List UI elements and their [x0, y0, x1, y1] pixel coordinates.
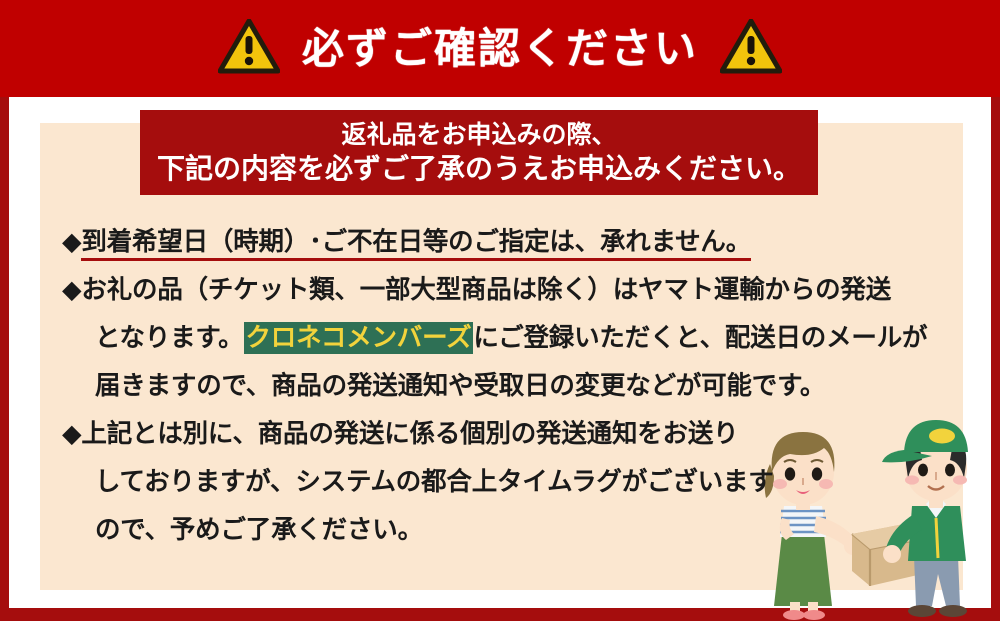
notice-item: ◆上記とは別に、商品の発送に係る個別の発送通知をお送り — [62, 410, 942, 458]
notice-text: お礼の品（チケット類、一部大型商品は除く）はヤマト運輸からの発送 — [81, 275, 891, 305]
notice-text: 届きますので、商品の発送通知や受取日の変更などが可能です。 — [95, 371, 825, 401]
notice-item: ◆到着希望日（時期）･ご不在日等のご指定は、承れません。 — [62, 218, 942, 266]
kuroneko-members-highlight: クロネコメンバーズ — [244, 322, 474, 354]
notice-list: ◆到着希望日（時期）･ご不在日等のご指定は、承れません。 ◆お礼の品（チケット類… — [62, 218, 942, 554]
bullet-diamond-icon: ◆ — [62, 419, 81, 449]
notice-text: 到着希望日（時期）･ご不在日等のご指定は、承れません。 — [81, 227, 751, 261]
page-title: 必ずご確認ください — [302, 28, 698, 70]
banner-line-1: 返礼品をお申込みの際、 — [341, 118, 616, 151]
header-bar: 必ずご確認ください — [0, 0, 1000, 97]
bullet-diamond-icon: ◆ — [62, 227, 81, 257]
notice-line: ので、予めご了承ください。 — [62, 506, 942, 554]
warning-triangle-icon — [720, 19, 782, 78]
bullet-diamond-icon: ◆ — [62, 275, 81, 305]
frame-left-red-edge — [0, 97, 9, 621]
notice-text: にご登録いただくと、配送日のメールが — [473, 323, 927, 353]
notice-text: となります。 — [95, 323, 244, 353]
notice-text: ので、予めご了承ください。 — [95, 515, 423, 545]
notice-text: 上記とは別に、商品の発送に係る個別の発送通知をお送り — [81, 419, 738, 449]
instruction-banner: 返礼品をお申込みの際、 下記の内容を必ずご了承のうえお申込みください。 — [140, 110, 818, 195]
notice-line: しておりますが、システムの都合上タイムラグがございます — [62, 458, 942, 506]
notice-banner-image: 必ずご確認ください 返礼品をお申込みの際、 下記の内容を必ずご了承のうえお申込み… — [0, 0, 1000, 621]
notice-item: ◆お礼の品（チケット類、一部大型商品は除く）はヤマト運輸からの発送 — [62, 266, 942, 314]
frame-right-red-edge — [991, 97, 1000, 621]
banner-line-2: 下記の内容を必ずご了承のうえお申込みください。 — [157, 151, 801, 188]
notice-text: しておりますが、システムの都合上タイムラグがございます — [95, 467, 774, 497]
warning-triangle-icon — [218, 19, 280, 78]
notice-line: となります。クロネコメンバーズにご登録いただくと、配送日のメールが — [62, 314, 942, 362]
notice-line: 届きますので、商品の発送通知や受取日の変更などが可能です。 — [62, 362, 942, 410]
